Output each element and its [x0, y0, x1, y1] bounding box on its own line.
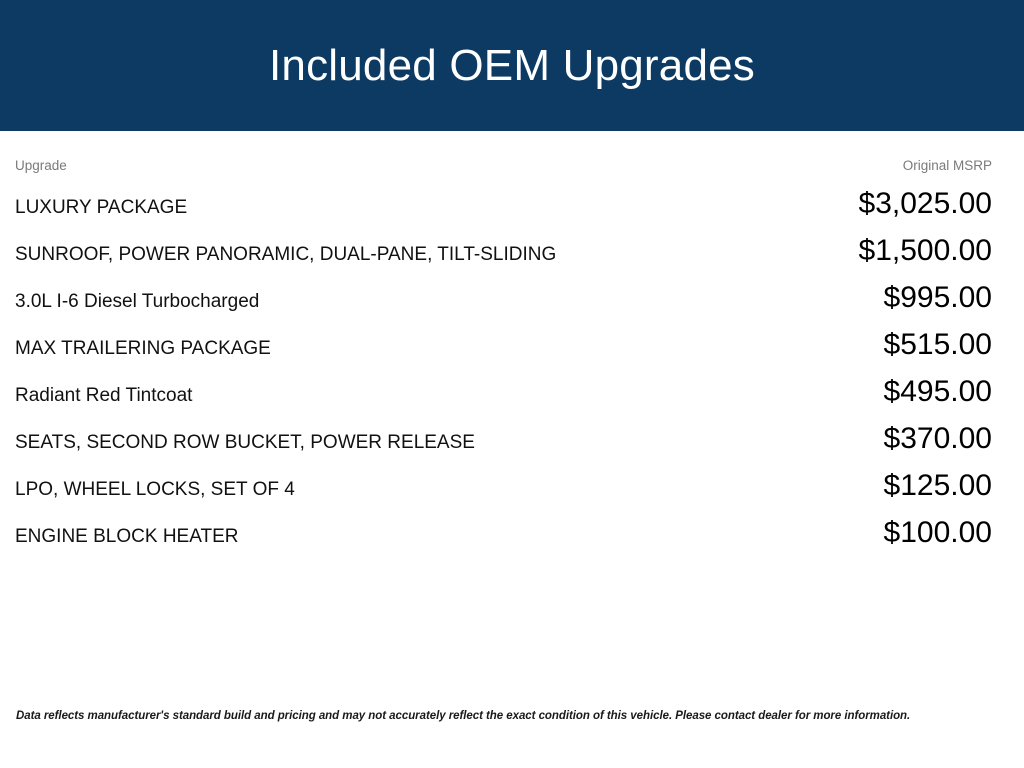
oem-upgrades-table: Upgrade Original MSRP LUXURY PACKAGE $3,…	[15, 131, 992, 548]
upgrade-name: Radiant Red Tintcoat	[15, 360, 621, 407]
page-title: Included OEM Upgrades	[269, 44, 755, 88]
column-header-upgrade: Upgrade	[15, 131, 621, 180]
table-row: 3.0L I-6 Diesel Turbocharged $995.00	[15, 266, 992, 313]
upgrade-price: $495.00	[621, 360, 992, 407]
upgrade-name: MAX TRAILERING PACKAGE	[15, 313, 621, 360]
table-row: LPO, WHEEL LOCKS, SET OF 4 $125.00	[15, 454, 992, 501]
table-header: Upgrade Original MSRP	[15, 131, 992, 180]
table-row: SEATS, SECOND ROW BUCKET, POWER RELEASE …	[15, 407, 992, 454]
page-header-band: Included OEM Upgrades	[0, 0, 1024, 131]
table-row: MAX TRAILERING PACKAGE $515.00	[15, 313, 992, 360]
oem-upgrades-page: Included OEM Upgrades Upgrade Original M…	[0, 0, 1024, 768]
upgrade-price: $370.00	[621, 407, 992, 454]
upgrade-name: SEATS, SECOND ROW BUCKET, POWER RELEASE	[15, 407, 621, 454]
upgrade-name: 3.0L I-6 Diesel Turbocharged	[15, 266, 621, 313]
upgrade-price: $1,500.00	[621, 219, 992, 266]
upgrade-name: ENGINE BLOCK HEATER	[15, 501, 621, 548]
table-row: ENGINE BLOCK HEATER $100.00	[15, 501, 992, 548]
upgrade-price: $100.00	[621, 501, 992, 548]
upgrade-price: $995.00	[621, 266, 992, 313]
table-header-row: Upgrade Original MSRP	[15, 131, 992, 180]
table-row: LUXURY PACKAGE $3,025.00	[15, 180, 992, 219]
table-row: SUNROOF, POWER PANORAMIC, DUAL-PANE, TIL…	[15, 219, 992, 266]
disclaimer-text: Data reflects manufacturer's standard bu…	[15, 709, 992, 768]
table-body: LUXURY PACKAGE $3,025.00 SUNROOF, POWER …	[15, 180, 992, 548]
upgrade-price: $3,025.00	[621, 180, 992, 219]
upgrade-price: $125.00	[621, 454, 992, 501]
upgrade-price: $515.00	[621, 313, 992, 360]
upgrade-name: SUNROOF, POWER PANORAMIC, DUAL-PANE, TIL…	[15, 219, 621, 266]
upgrade-name: LUXURY PACKAGE	[15, 180, 621, 219]
upgrade-name: LPO, WHEEL LOCKS, SET OF 4	[15, 454, 621, 501]
table-row: Radiant Red Tintcoat $495.00	[15, 360, 992, 407]
column-header-price: Original MSRP	[621, 131, 992, 180]
upgrades-content: Upgrade Original MSRP LUXURY PACKAGE $3,…	[0, 131, 1024, 768]
